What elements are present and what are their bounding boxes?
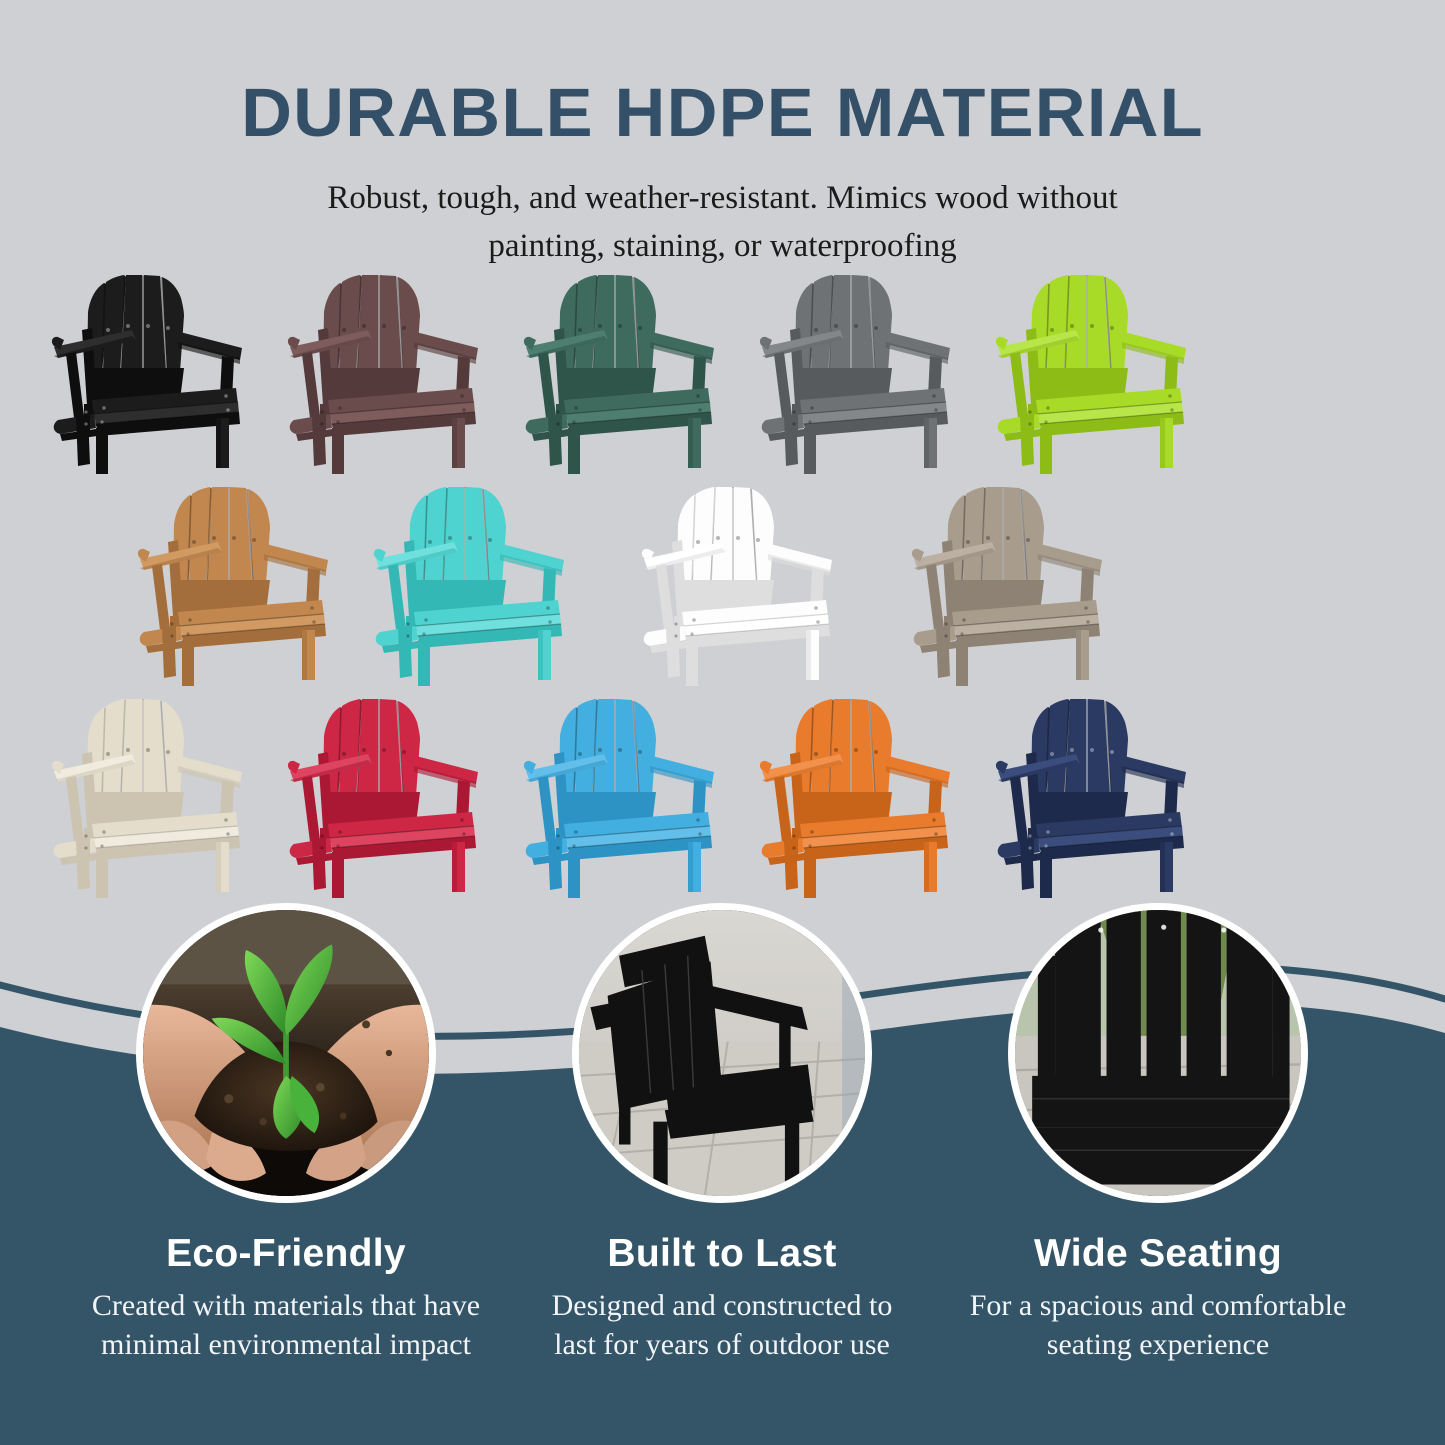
subtitle-line-2: painting, staining, or waterproofing [0, 223, 1445, 271]
chair-swatch-red[interactable] [276, 692, 491, 898]
adirondack-chair [362, 480, 577, 686]
chair-swatch-taupe[interactable] [900, 480, 1115, 686]
feature-text-built-to-last: Built to Last Designed and constructed t… [487, 1232, 957, 1364]
adirondack-chair [748, 692, 963, 898]
adirondack-chair [630, 480, 845, 686]
chair-swatch-white[interactable] [630, 480, 845, 686]
chair-swatch-gray[interactable] [748, 268, 963, 474]
adirondack-chair [512, 692, 727, 898]
feature-photo-built-to-last [572, 903, 872, 1203]
adirondack-chair [984, 268, 1199, 474]
adirondack-chair [126, 480, 341, 686]
wide-seat-closeup-icon [1015, 910, 1301, 1196]
chair-swatch-orange[interactable] [748, 692, 963, 898]
feature-desc-line-2: seating experience [1047, 1328, 1269, 1361]
feature-heading: Built to Last [487, 1232, 957, 1276]
feature-heading: Wide Seating [923, 1232, 1393, 1276]
page-title: DURABLE HDPE MATERIAL [0, 0, 1445, 147]
chair-row-1 [0, 268, 1445, 474]
chair-swatch-brown[interactable] [276, 268, 491, 474]
chair-swatch-turquoise[interactable] [362, 480, 577, 686]
chair-row-2 [0, 480, 1445, 686]
chair-swatch-sky-blue[interactable] [512, 692, 727, 898]
feature-desc-line-1: Designed and constructed to [552, 1289, 893, 1322]
header: DURABLE HDPE MATERIAL Robust, tough, and… [0, 0, 1445, 271]
infographic-page: DURABLE HDPE MATERIAL Robust, tough, and… [0, 0, 1445, 1445]
adirondack-chair [900, 480, 1115, 686]
adirondack-chair [40, 268, 255, 474]
adirondack-chair [512, 268, 727, 474]
feature-description: Created with materials that have minimal… [51, 1286, 521, 1364]
feature-text-wide-seating: Wide Seating For a spacious and comforta… [923, 1232, 1393, 1364]
hands-seedling-icon [143, 910, 429, 1196]
feature-photo-wide-seating [1008, 903, 1308, 1203]
feature-desc-line-2: last for years of outdoor use [554, 1328, 890, 1361]
subtitle-line-1: Robust, tough, and weather-resistant. Mi… [0, 175, 1445, 223]
feature-desc-line-1: For a spacious and comfortable [970, 1289, 1347, 1322]
chair-swatch-black[interactable] [40, 268, 255, 474]
chair-swatch-navy[interactable] [984, 692, 1199, 898]
chair-swatch-dark-green[interactable] [512, 268, 727, 474]
adirondack-chair [276, 268, 491, 474]
feature-desc-line-1: Created with materials that have [92, 1289, 480, 1322]
feature-text-eco-friendly: Eco-Friendly Created with materials that… [51, 1232, 521, 1364]
page-subtitle: Robust, tough, and weather-resistant. Mi… [0, 147, 1445, 271]
black-chair-patio-icon [579, 910, 865, 1196]
feature-description: For a spacious and comfortable seating e… [923, 1286, 1393, 1364]
adirondack-chair [276, 692, 491, 898]
chair-swatch-lime-green[interactable] [984, 268, 1199, 474]
chair-swatch-ivory[interactable] [40, 692, 255, 898]
chair-row-3 [0, 692, 1445, 898]
feature-desc-line-2: minimal environmental impact [101, 1328, 471, 1361]
feature-photo-eco-friendly [136, 903, 436, 1203]
feature-description: Designed and constructed to last for yea… [487, 1286, 957, 1364]
adirondack-chair [40, 692, 255, 898]
adirondack-chair [984, 692, 1199, 898]
feature-heading: Eco-Friendly [51, 1232, 521, 1276]
adirondack-chair [748, 268, 963, 474]
chair-swatch-teak[interactable] [126, 480, 341, 686]
